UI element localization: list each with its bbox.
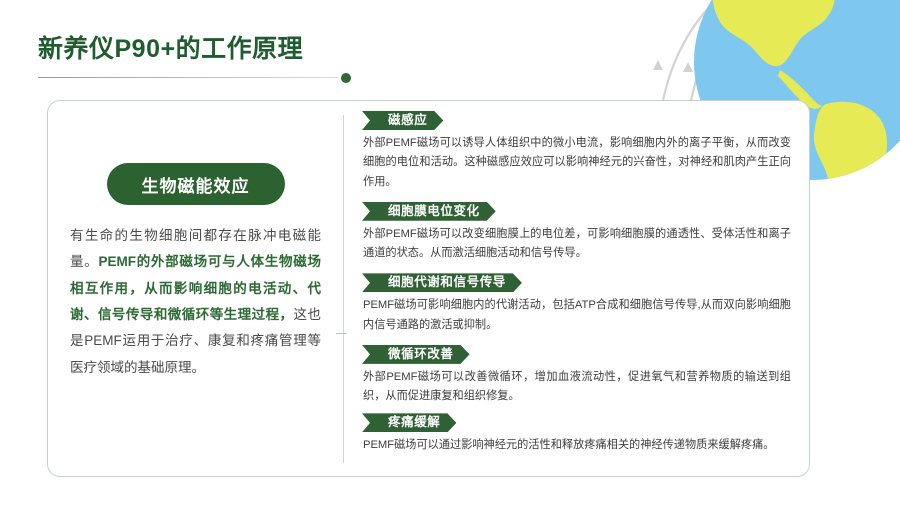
section-heading-ribbon: 微循环改善 (362, 345, 470, 364)
section-microcirculation: 微循环改善 外部PEMF磁场可以改善微循环，增加血液流动性，促进氧气和营养物质的… (362, 345, 795, 407)
left-panel: 生物磁能效应 有生命的生物细胞间都存在脉冲电磁能量。PEMF的外部磁场可与人体生… (48, 101, 343, 476)
section-heading-ribbon: 磁感应 (362, 111, 443, 130)
left-panel-body: 有生命的生物细胞间都存在脉冲电磁能量。PEMF的外部磁场可与人体生物磁场相互作用… (70, 223, 321, 381)
field-arrow-icon (653, 60, 751, 76)
section-heading-ribbon: 细胞代谢和信号传导 (362, 273, 522, 292)
section-body: PEMF磁场可以通过影响神经元的活性和释放疼痛相关的神经传递物质来缓解疼痛。 (363, 436, 791, 455)
page-title: 新养仪P90+的工作原理 (38, 36, 358, 64)
section-membrane-potential: 细胞膜电位变化 外部PEMF磁场可以改变细胞膜上的电位差，可影响细胞膜的通透性、… (362, 202, 795, 264)
section-body: 外部PEMF磁场可以改变细胞膜上的电位差，可影响细胞膜的通透性、受体活性和离子通… (363, 225, 791, 264)
right-panel: 磁感应 外部PEMF磁场可以诱导人体组织中的微小电流，影响细胞内外的离子平衡，从… (344, 101, 809, 476)
title-rule-line (38, 77, 338, 79)
left-body-emphasis: PEMF的外部磁场可与人体生物磁场相互作用，从而影响细胞的电活动、代谢、信号传导… (70, 254, 321, 322)
section-body: PEMF磁场可影响细胞内的代谢活动，包括ATP合成和细胞信号传导,从而双向影响细… (363, 296, 791, 335)
section-cell-metabolism: 细胞代谢和信号传导 PEMF磁场可影响细胞内的代谢活动，包括ATP合成和细胞信号… (362, 273, 795, 335)
title-accent-dot (341, 73, 351, 83)
content-card: 生物磁能效应 有生命的生物细胞间都存在脉冲电磁能量。PEMF的外部磁场可与人体生… (47, 100, 810, 477)
section-magnetic-induction: 磁感应 外部PEMF磁场可以诱导人体组织中的微小电流，影响细胞内外的离子平衡，从… (362, 111, 795, 192)
section-pain-relief: 疼痛缓解 PEMF磁场可以通过影响神经元的活性和释放疼痛相关的神经传递物质来缓解… (362, 413, 795, 455)
title-underline (38, 73, 350, 83)
left-panel-pill-title: 生物磁能效应 (107, 163, 285, 205)
section-heading-ribbon: 疼痛缓解 (362, 413, 456, 432)
section-heading-ribbon: 细胞膜电位变化 (362, 202, 496, 221)
section-body: 外部PEMF磁场可以改善微循环，增加血液流动性，促进氧气和营养物质的输送到组织，… (363, 368, 791, 407)
page-header: 新养仪P90+的工作原理 (38, 36, 358, 83)
section-body: 外部PEMF磁场可以诱导人体组织中的微小电流，影响细胞内外的离子平衡，从而改变细… (363, 134, 791, 192)
